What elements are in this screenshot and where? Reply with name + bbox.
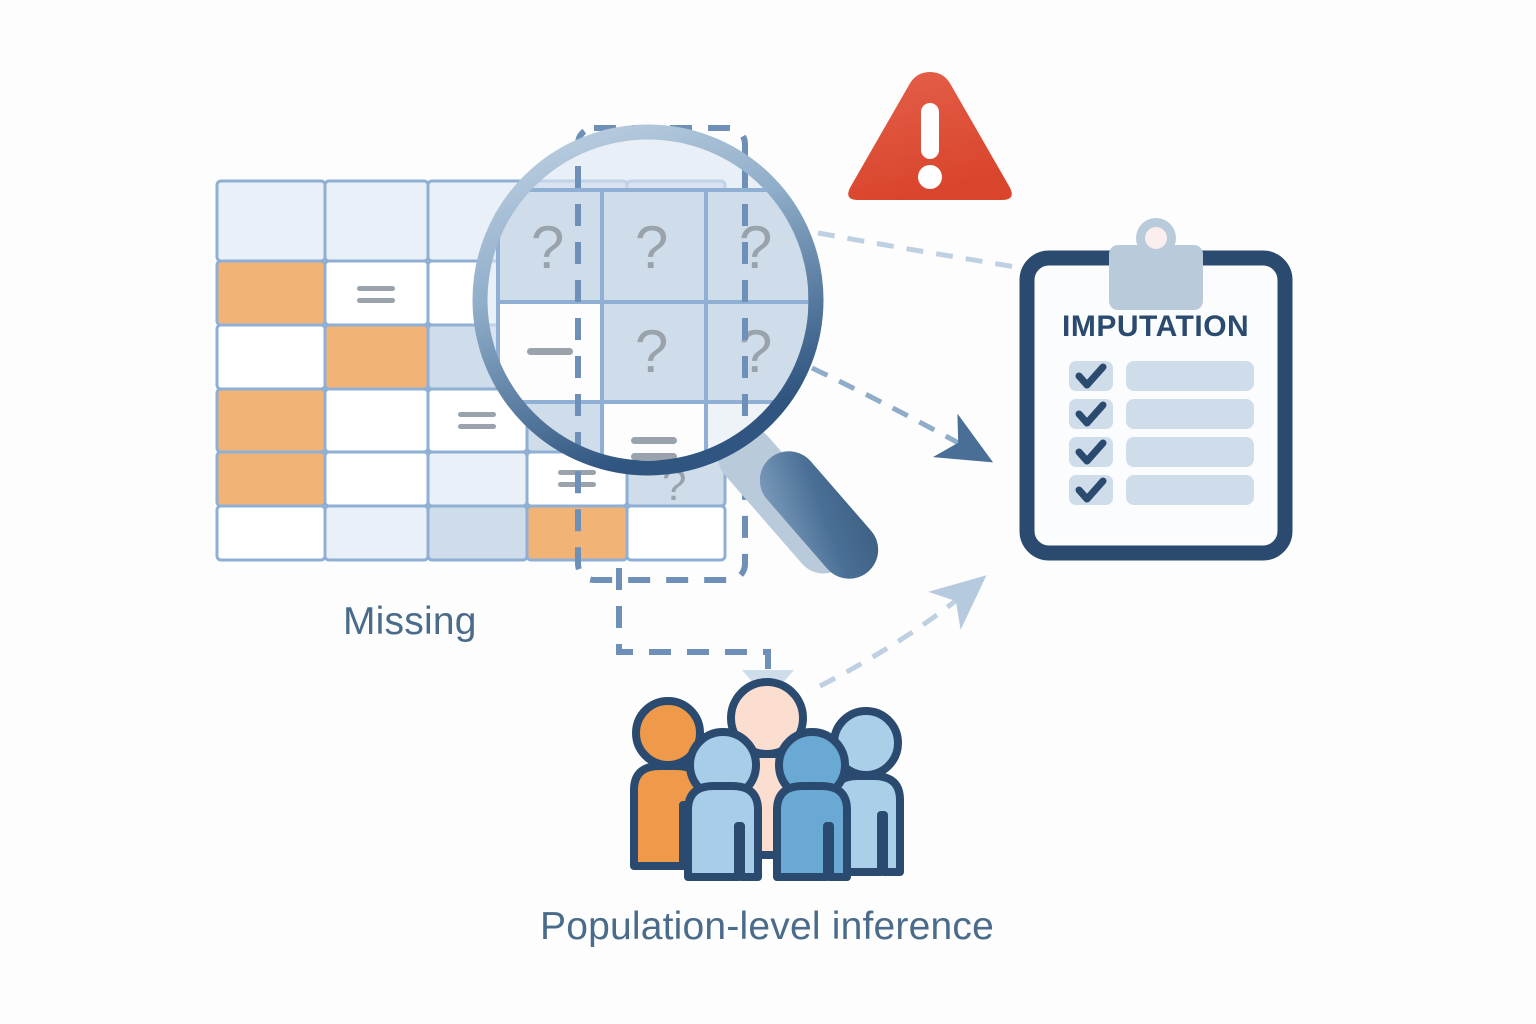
table-cell [325,389,428,452]
people-group-icon [634,682,900,877]
person-2 [688,732,758,877]
missing-label: Missing [343,600,477,644]
svg-text:?: ? [635,214,668,281]
table-cell [325,506,428,560]
warning-triangle-icon [848,72,1012,200]
checklist-row [1069,361,1254,391]
table-cell-missing [217,452,325,506]
table-cell-missing [217,261,325,325]
checklist-row [1069,399,1254,429]
table-cell [627,506,725,560]
checklist-line [1126,399,1254,429]
population-label: Population-level inference [540,905,994,949]
checklist-row [1069,475,1254,505]
table-cell-missing [217,389,325,452]
table-cell [325,261,428,325]
svg-text:?: ? [531,214,564,281]
svg-text:?: ? [635,318,668,385]
table-cell [217,325,325,389]
table-cell [325,181,428,261]
imputation-title: IMPUTATION [1062,310,1249,344]
table-cell [217,506,325,560]
person-4 [777,732,847,877]
diagram-canvas: ? ? ? [0,0,1536,1024]
clipboard-icon [1027,218,1285,553]
connector-lens-to-alert [818,233,1022,268]
checklist-line [1126,361,1254,391]
checklist-line [1126,475,1254,505]
table-row [217,506,725,560]
table-cell-missing [325,325,428,389]
connector-lens-to-clipboard [812,368,980,455]
table-cell [428,452,527,506]
connector-people-to-clipboard [820,585,975,686]
table-cell [428,506,527,560]
table-cell [217,181,325,261]
checklist-row [1069,437,1254,467]
checklist-line [1126,437,1254,467]
table-cell [325,452,428,506]
